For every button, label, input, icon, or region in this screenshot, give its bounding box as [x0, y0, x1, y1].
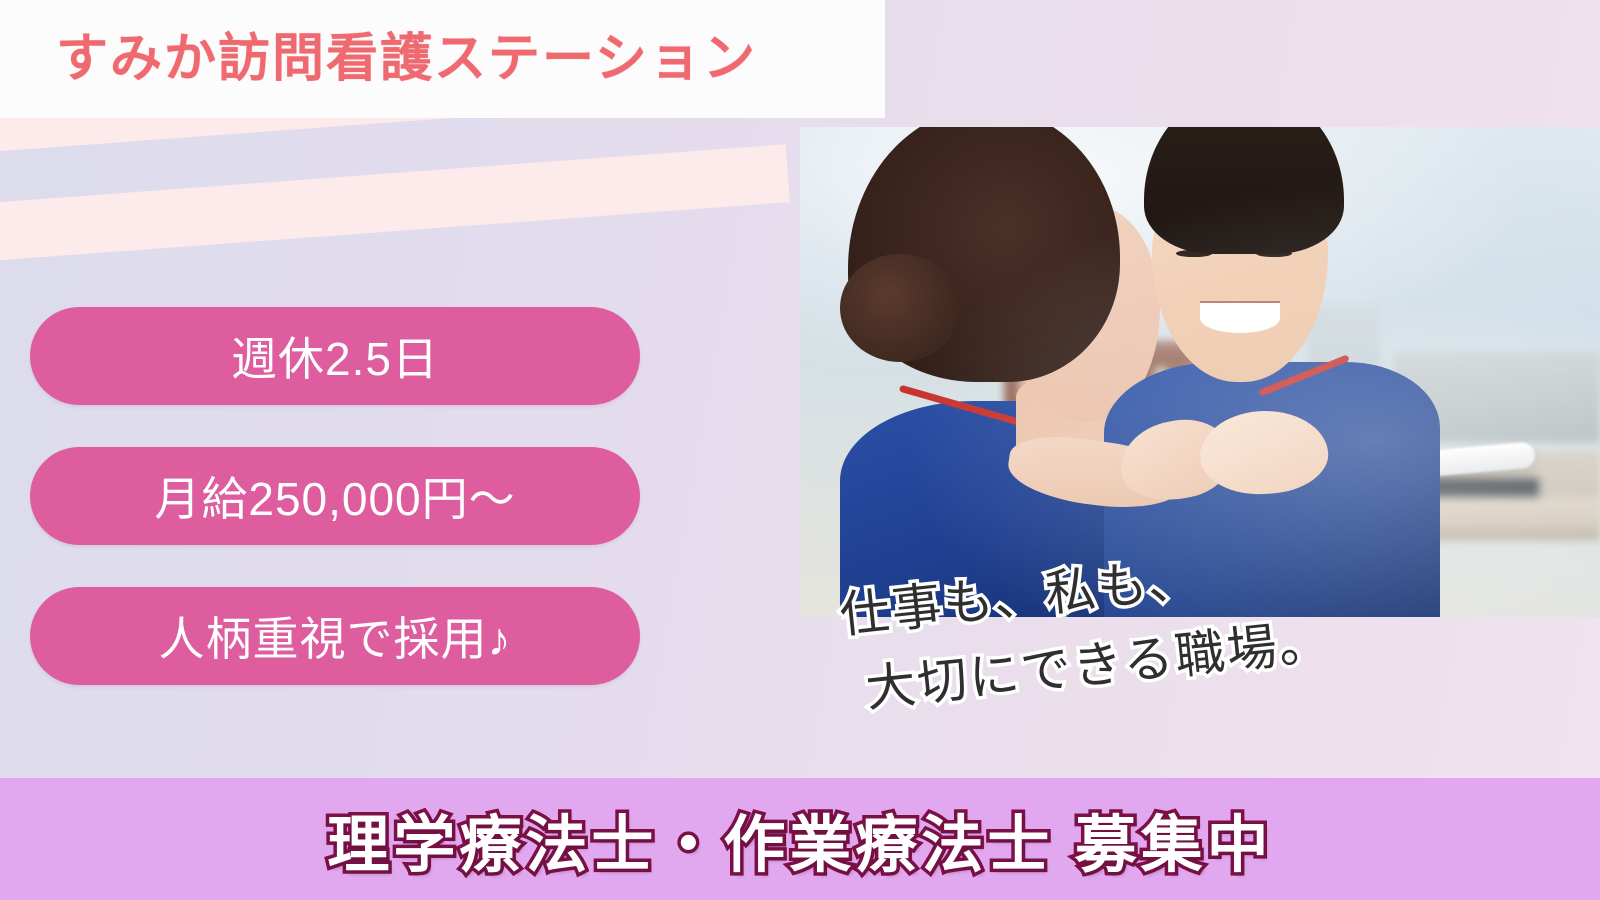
page-title: すみか訪問看護ステーション: [56, 20, 757, 98]
recruitment-poster: 仕事も、私も、 大切にできる職場。 すみか訪問看護ステーション 週休2.5日 月…: [0, 0, 1600, 900]
badge-personality-hiring-label: 人柄重視で採用♪: [159, 603, 512, 669]
recruit-banner: 理学療法士・作業療法士 募集中: [0, 778, 1600, 900]
badge-weekly-holidays: 週休2.5日: [30, 307, 640, 405]
badge-weekly-holidays-label: 週休2.5日: [231, 323, 439, 389]
badge-monthly-salary: 月給250,000円〜: [30, 447, 640, 545]
recruit-banner-text: 理学療法士・作業療法士 募集中: [327, 794, 1272, 884]
badge-monthly-salary-label: 月給250,000円〜: [154, 463, 515, 529]
badge-personality-hiring: 人柄重視で採用♪: [30, 587, 640, 685]
diagonal-stripe-bottom: [0, 144, 790, 263]
